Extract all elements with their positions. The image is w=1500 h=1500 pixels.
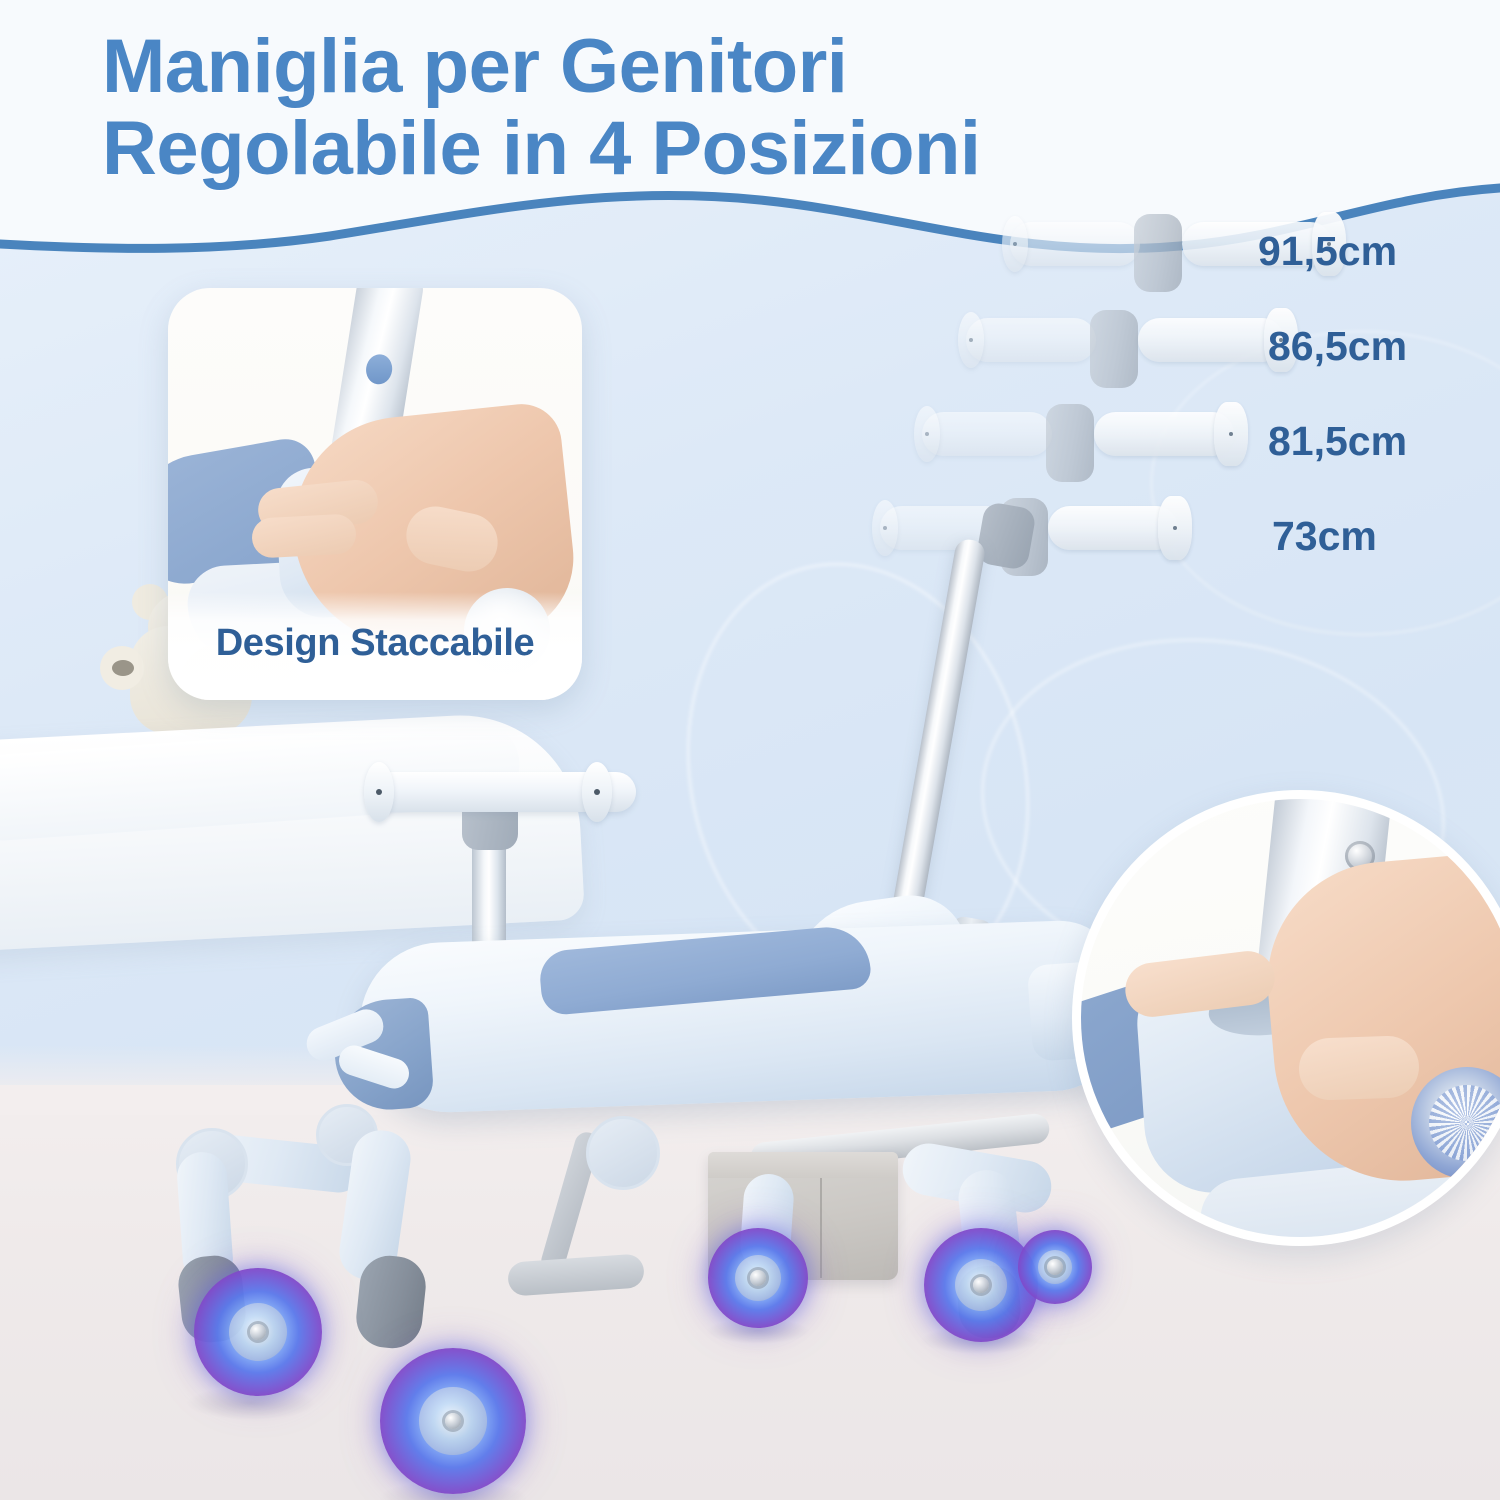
led-wheel-partial: [1018, 1230, 1092, 1304]
led-wheel-rear-mid: [708, 1228, 808, 1328]
pole-insertion-detail-circle: [1072, 790, 1500, 1246]
measurement-label: 91,5cm: [1258, 228, 1488, 323]
measurement-label: 86,5cm: [1258, 323, 1488, 418]
grip-left: [966, 318, 1096, 362]
handle-position-3: [922, 412, 1252, 456]
grip-left: [1010, 222, 1140, 266]
linkage-hub-mid: [586, 1116, 660, 1190]
title-line-2: Regolabile in 4 Posizioni: [102, 108, 1282, 190]
grip-cap-right: [1158, 496, 1192, 560]
card-caption-band: Design Staccabile: [168, 592, 582, 700]
ride-on-scooter: [150, 700, 1170, 1500]
grip-cap-left: [914, 406, 940, 462]
card-caption: Design Staccabile: [216, 622, 534, 671]
grip-cap-left: [958, 312, 984, 368]
led-wheel-front-left: [194, 1268, 322, 1396]
detachable-design-card: Design Staccabile: [168, 288, 582, 700]
grip-cap-left: [872, 500, 898, 556]
t-joint: [1134, 214, 1182, 292]
led-wheel-glow: [1018, 1230, 1092, 1304]
bear-paw-left: [112, 660, 134, 676]
handle-position-4: [880, 506, 1210, 550]
storage-bag-flap: [708, 1152, 898, 1178]
circle-finger: [1298, 1035, 1420, 1101]
grip-cap-left: [1002, 216, 1028, 272]
product-infographic: Maniglia per Genitori Regolabile in 4 Po…: [0, 0, 1500, 1500]
t-joint: [1046, 404, 1094, 482]
kickstand-foot: [507, 1253, 645, 1296]
page-title: Maniglia per Genitori Regolabile in 4 Po…: [102, 26, 1282, 190]
leg-shank-mid-left: [353, 1253, 428, 1351]
storage-bag-seam: [820, 1178, 822, 1278]
measurement-labels: 91,5cm 86,5cm 81,5cm 73cm: [1258, 228, 1488, 608]
title-line-1: Maniglia per Genitori: [102, 26, 1282, 108]
card-finger: [251, 513, 357, 558]
child-grip-cap-left: [364, 762, 394, 822]
grip-right: [1094, 412, 1234, 456]
grip-cap-right: [1214, 402, 1248, 466]
handle-position-2: [966, 318, 1296, 362]
measurement-label: 81,5cm: [1258, 418, 1488, 513]
t-joint: [1090, 310, 1138, 388]
child-grip-cap-right: [582, 762, 612, 822]
measurement-label: 73cm: [1258, 513, 1488, 608]
card-release-button: [364, 352, 394, 386]
led-wheel-front-right: [380, 1348, 526, 1494]
grip-left: [922, 412, 1052, 456]
